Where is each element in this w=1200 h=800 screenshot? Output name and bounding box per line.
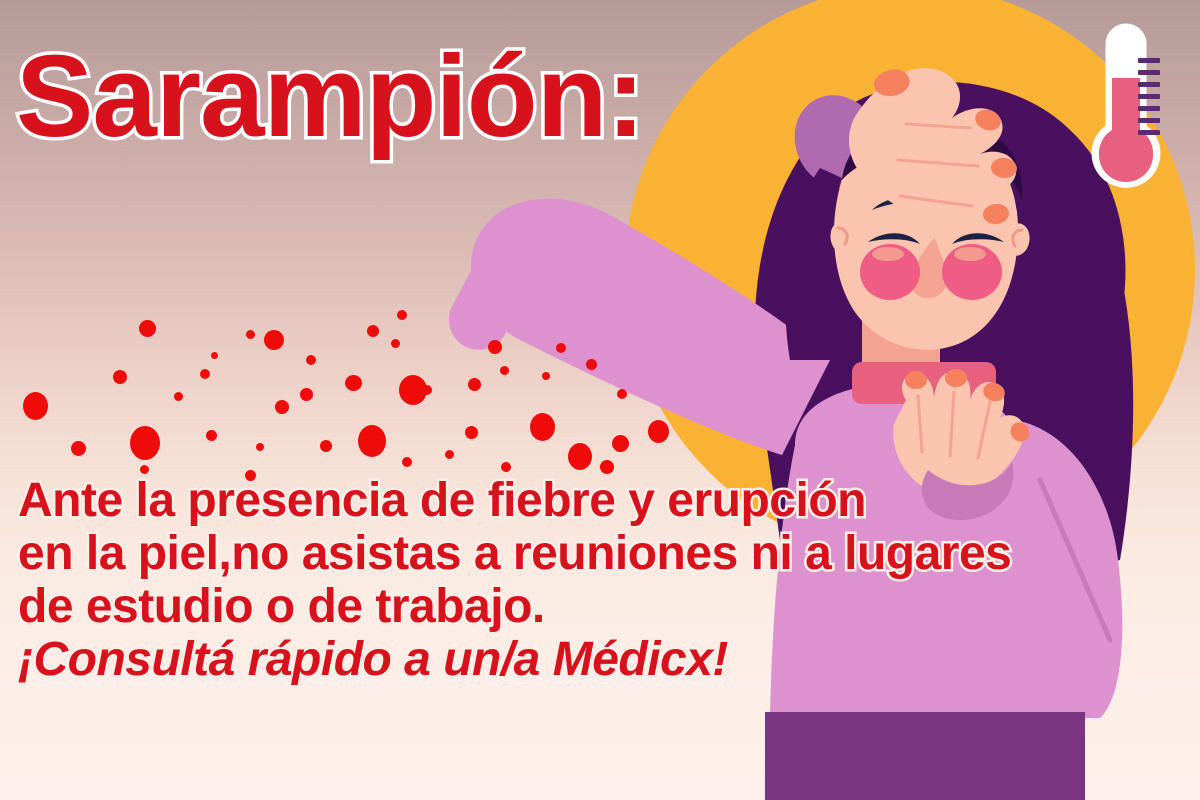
chest-hand-nail-1 [905,371,927,389]
thermometer-bulb [1099,128,1153,182]
cheek-highlight-left [872,247,904,261]
thermometer-glyph [1096,28,1160,183]
message-block: Ante la presencia de fiebre y erupción e… [18,474,1078,686]
thermometer-icon [1074,22,1184,192]
message-line: en la piel,no asistas a reuniones ni a l… [18,527,1078,580]
cheek-highlight-right [954,247,986,261]
poster-canvas: Sarampión: Ante la presencia de fiebre y… [0,0,1200,800]
message-line-call-to-action: ¡Consultá rápido a un/a Médicx! [18,633,1078,686]
chest-hand-nail-2 [945,369,967,387]
message-line: de estudio o de trabajo. [18,580,1078,633]
skirt [765,712,1085,800]
page-title: Sarampión: [16,38,644,154]
message-line: Ante la presencia de fiebre y erupción [18,474,1078,527]
